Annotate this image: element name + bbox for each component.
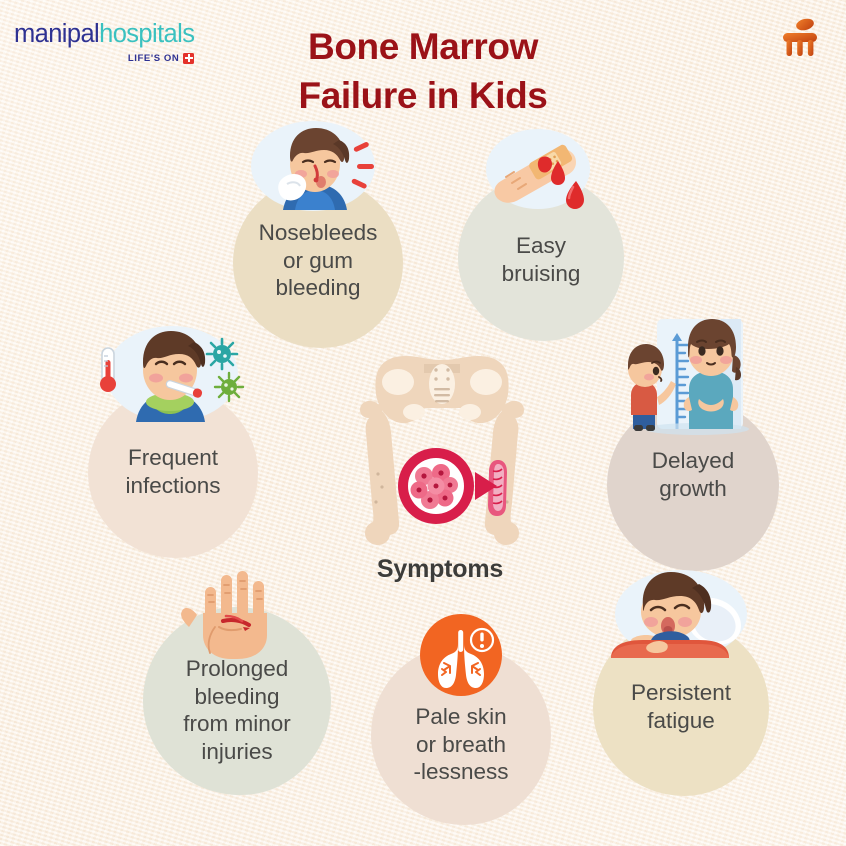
symptom-nosebleeds[interactable]: Nosebleeds or gum bleeding — [233, 178, 403, 348]
symptom-label-line: Prolonged — [149, 655, 325, 683]
symptom-label-line: Frequent — [94, 444, 252, 472]
symptom-label-line: Pale skin — [377, 703, 545, 731]
symptom-prolonged-bleeding[interactable]: Prolonged bleeding from minor injuries — [143, 607, 331, 795]
virus-icon — [207, 339, 237, 369]
symptom-label-line: from minor — [149, 710, 325, 738]
symptom-label: Easy bruising — [458, 232, 624, 287]
brand-mark-icon — [776, 16, 824, 62]
symptom-label-line: fatigue — [599, 707, 763, 735]
symptom-label-line: Nosebleeds — [239, 219, 397, 247]
bone-marrow-illustration — [352, 352, 532, 552]
lungs-alert-icon — [420, 614, 502, 696]
symptom-label: Nosebleeds or gum bleeding — [233, 219, 403, 302]
symptom-frequent-infections[interactable]: Frequent infections — [88, 388, 258, 558]
symptom-label-line: growth — [613, 475, 773, 503]
symptom-label-line: or gum — [239, 247, 397, 275]
symptom-pale-skin[interactable]: Pale skin or breath -lessness — [371, 645, 551, 825]
symptom-persistent-fatigue[interactable]: Persistent fatigue — [593, 620, 769, 796]
symptom-label: Delayed growth — [607, 447, 779, 502]
sick-boy-thermometer-icon — [94, 322, 254, 450]
title-line-1: Bone Marrow — [0, 22, 846, 71]
virus-icon — [215, 373, 243, 401]
height-chart-children-icon — [615, 311, 780, 446]
symptom-label: Pale skin or breath -lessness — [371, 703, 551, 786]
symptom-label-line: -lessness — [377, 758, 545, 786]
bandaged-finger-icon — [480, 127, 610, 232]
symptom-label: Persistent fatigue — [593, 679, 769, 734]
symptom-label-line: bleeding — [239, 274, 397, 302]
page-title: Bone Marrow Failure in Kids — [0, 22, 846, 120]
center-label: Symptoms — [335, 555, 545, 584]
symptom-easy-bruising[interactable]: Easy bruising — [458, 175, 624, 341]
symptom-label-line: injuries — [149, 738, 325, 766]
symptom-label-line: Delayed — [613, 447, 773, 475]
symptom-label-line: infections — [94, 472, 252, 500]
sleeping-boy-icon — [599, 564, 767, 689]
symptom-delayed-growth[interactable]: Delayed growth — [607, 399, 779, 571]
symptom-label-line: or breath — [377, 731, 545, 759]
symptom-label: Frequent infections — [88, 444, 258, 499]
symptom-label-line: bleeding — [149, 683, 325, 711]
symptom-label-line: Easy — [464, 232, 618, 260]
symptom-label: Prolonged bleeding from minor injuries — [143, 655, 331, 766]
symptom-label-line: Persistent — [599, 679, 763, 707]
title-line-2: Failure in Kids — [0, 71, 846, 120]
symptom-label-line: bruising — [464, 260, 618, 288]
